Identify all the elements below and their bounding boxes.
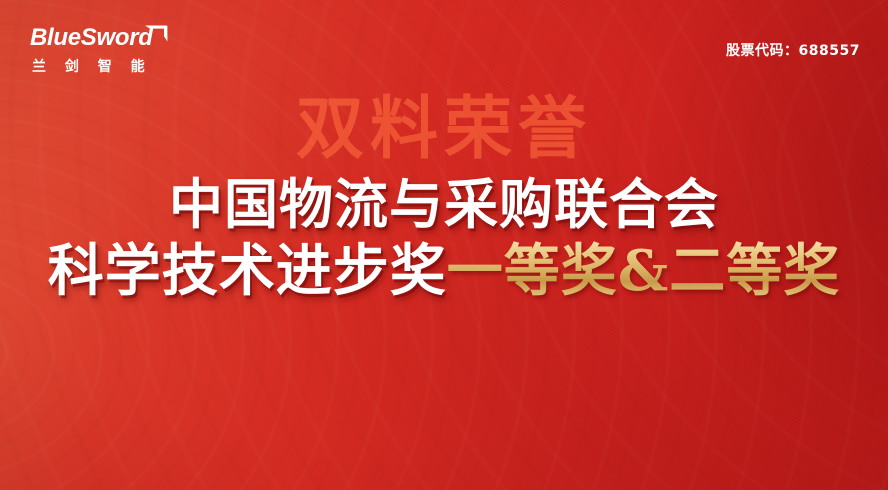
title-line-2: 科学技术进步奖一等奖&二等奖 — [0, 242, 888, 300]
title-line-2-gold-segment: 一等奖&二等奖 — [447, 238, 841, 304]
watermark-headline: 双料荣誉 — [0, 96, 888, 164]
company-logo[interactable]: BlueSword 兰 剑 智 能 — [30, 26, 210, 78]
logo-wordmark: BlueSword — [30, 26, 153, 50]
title-line-1: 中国物流与采购联合会 — [0, 176, 888, 232]
stock-code-label: 股票代码：688557 — [726, 40, 860, 60]
logo-subtitle: 兰 剑 智 能 — [32, 56, 152, 76]
title-block: 中国物流与采购联合会 科学技术进步奖一等奖&二等奖 — [0, 176, 888, 300]
title-line-2-white-segment: 科学技术进步奖 — [48, 238, 447, 304]
award-banner: BlueSword 兰 剑 智 能 股票代码：688557 双料荣誉 中国物流与… — [0, 0, 888, 490]
sword-banner-icon — [143, 24, 169, 44]
